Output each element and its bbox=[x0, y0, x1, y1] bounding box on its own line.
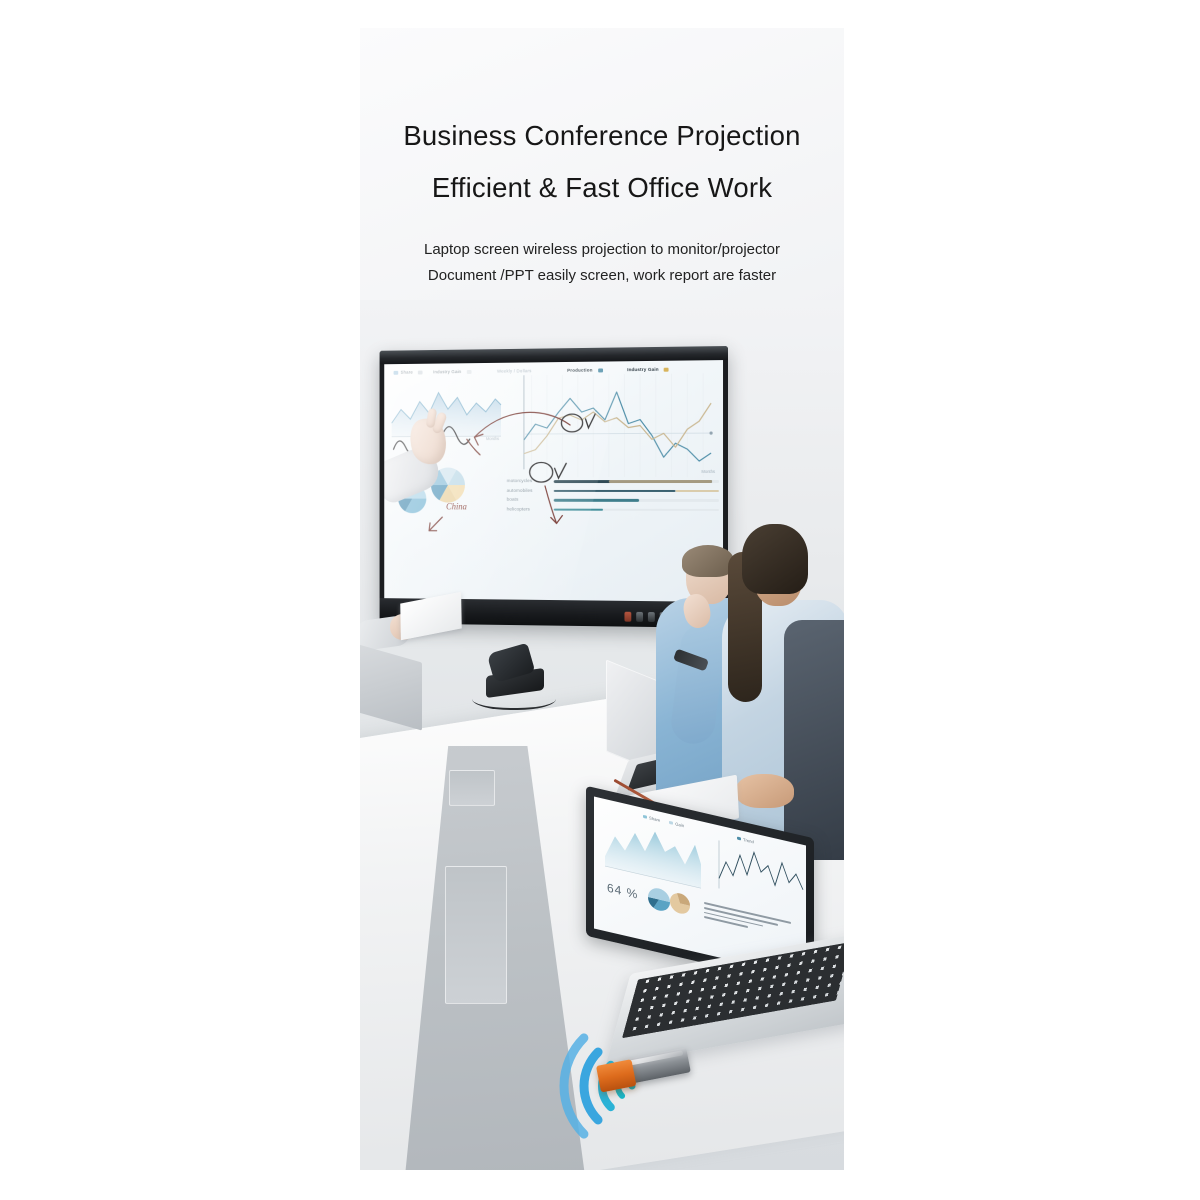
bar-track bbox=[554, 480, 719, 483]
legend-swatch-production bbox=[598, 368, 603, 372]
legend-label-production: Production bbox=[567, 368, 592, 373]
bar-row: automobiles bbox=[507, 488, 719, 493]
legend-swatch-industry bbox=[664, 367, 669, 371]
headline-line-2: Efficient & Fast Office Work bbox=[360, 172, 844, 204]
person-dark-vest bbox=[732, 524, 844, 854]
bar-fill bbox=[554, 499, 639, 502]
line-series-production bbox=[524, 391, 711, 461]
laptop-pie-small bbox=[648, 886, 670, 913]
legend-label-industry-gain: Industry Gain bbox=[433, 369, 461, 374]
presenter-with-paper bbox=[360, 600, 452, 656]
line-series-industry bbox=[524, 403, 711, 454]
chart-subtitle: Weekly / Dollars bbox=[497, 368, 532, 373]
category-bar-rows: motorcycles automobiles bbox=[507, 479, 719, 517]
line-endpoint-marker bbox=[710, 431, 713, 434]
product-banner-panel: Business Conference Projection Efficient… bbox=[360, 28, 844, 1170]
bar-fill-secondary bbox=[676, 490, 720, 493]
menu-button-icon[interactable] bbox=[636, 612, 643, 622]
legend-industry-gain-2: Industry Gain bbox=[627, 367, 669, 372]
bar-track bbox=[554, 508, 719, 511]
legend-label-share: Share bbox=[401, 370, 413, 375]
person-2-hair bbox=[742, 524, 808, 594]
line-x-label: Months bbox=[511, 469, 718, 474]
legend-share: Share bbox=[394, 370, 423, 375]
subline-2: Document /PPT easily screen, work report… bbox=[360, 264, 844, 288]
ink-china-arrow-head bbox=[429, 523, 437, 531]
bar-fill bbox=[554, 508, 603, 511]
bar-row: helicopters bbox=[507, 507, 719, 512]
power-button-icon[interactable] bbox=[624, 612, 631, 622]
person-2-hands bbox=[736, 774, 794, 808]
legend-industry-gain: Industry Gain bbox=[433, 369, 471, 374]
bar-label-automobiles: automobiles bbox=[507, 488, 549, 493]
bar-row: boats bbox=[507, 498, 719, 503]
source-button-icon[interactable] bbox=[648, 612, 655, 622]
laptop-pie-group bbox=[646, 882, 692, 923]
tray-port-large bbox=[445, 866, 507, 1004]
bar-track bbox=[554, 499, 719, 502]
line-chart-svg bbox=[511, 373, 718, 477]
banner-header: Business Conference Projection Efficient… bbox=[360, 28, 844, 289]
bar-label-helicopters: helicopters bbox=[507, 507, 549, 512]
conference-phone bbox=[482, 650, 548, 698]
legend-production: Production bbox=[567, 367, 603, 372]
legend-swatch-a bbox=[418, 370, 423, 374]
legend-swatch-share bbox=[394, 370, 399, 374]
person-1-hair bbox=[682, 545, 734, 577]
dongle-orange-cap bbox=[596, 1059, 636, 1092]
headline-line-1: Business Conference Projection bbox=[360, 120, 844, 152]
bar-row: motorcycles bbox=[507, 479, 719, 484]
line-axis-baseline bbox=[524, 433, 711, 434]
bar-label-motorcycles: motorcycles bbox=[507, 479, 549, 484]
tray-port-small bbox=[449, 770, 495, 806]
presenter-arm-on-screen bbox=[386, 402, 453, 519]
conference-room-photo: Share Industry Gain Weekly / Dollars Pro… bbox=[360, 300, 844, 1170]
subline-1: Laptop screen wireless projection to mon… bbox=[360, 238, 844, 262]
laptop-pie-tan bbox=[670, 891, 690, 916]
bar-fill bbox=[554, 490, 676, 493]
bar-track bbox=[554, 490, 719, 493]
laptop-percent-value: 64 % bbox=[607, 881, 638, 902]
line-chart-grid bbox=[532, 373, 704, 477]
bar-label-boats: boats bbox=[507, 498, 549, 503]
legend-swatch-b bbox=[467, 370, 472, 374]
legend-label-industry-gain-2: Industry Gain bbox=[627, 367, 659, 372]
right-line-chart: Months bbox=[511, 373, 718, 491]
phone-cord bbox=[472, 686, 556, 710]
banner-stage: Business Conference Projection Efficient… bbox=[0, 0, 1200, 1200]
bar-fill-secondary bbox=[609, 480, 712, 483]
